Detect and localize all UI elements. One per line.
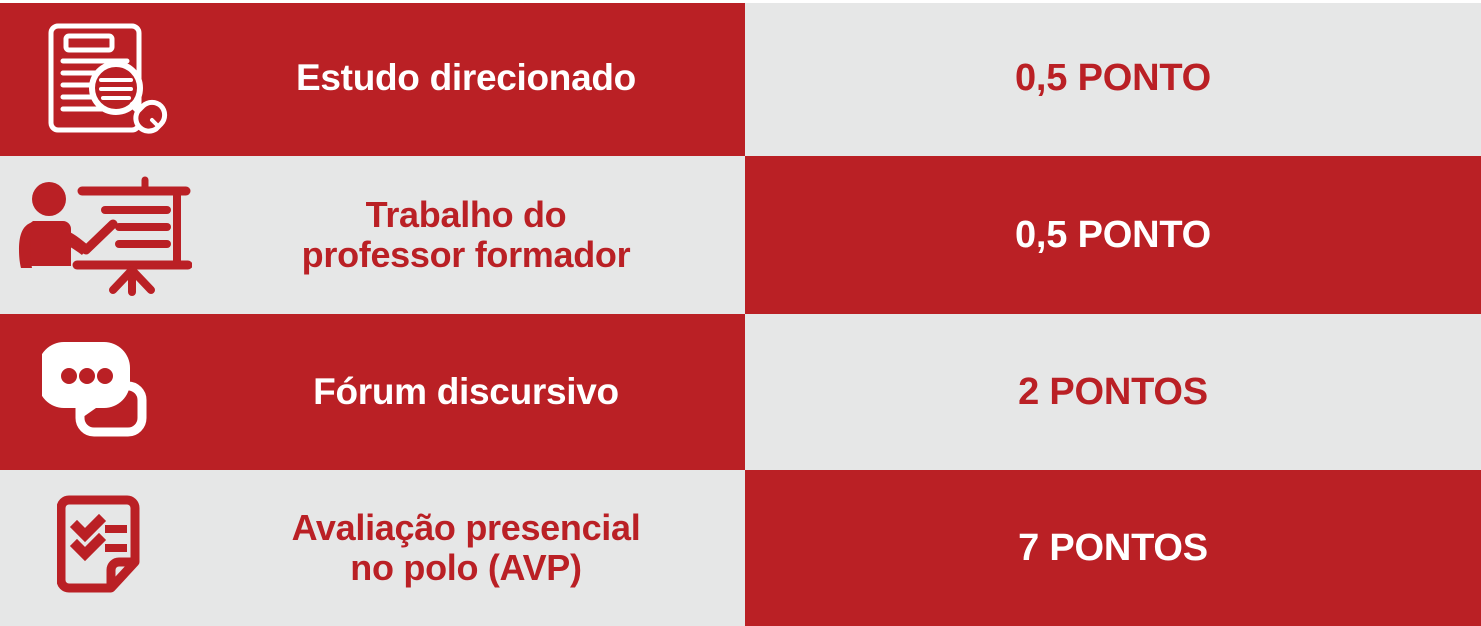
- points-value: 2 PONTOS: [1018, 371, 1208, 414]
- table-row: Fórum discursivo 2 PONTOS: [0, 314, 1481, 470]
- grading-table: Estudo direcionado 0,5 PONTO: [0, 0, 1481, 626]
- activity-cell: Fórum discursivo: [0, 314, 745, 470]
- points-cell: 0,5 PONTO: [745, 0, 1481, 156]
- teacher-flipchart-icon: [0, 156, 205, 314]
- table-row: Avaliação presencial no polo (AVP) 7 PON…: [0, 470, 1481, 626]
- activity-label: Avaliação presencial no polo (AVP): [205, 508, 745, 589]
- checklist-document-icon: [0, 470, 205, 626]
- activity-cell: Avaliação presencial no polo (AVP): [0, 470, 745, 626]
- activity-label: Fórum discursivo: [205, 371, 745, 412]
- table-row: Estudo direcionado 0,5 PONTO: [0, 0, 1481, 156]
- grading-criteria-graphic: Estudo direcionado 0,5 PONTO: [0, 0, 1481, 626]
- points-value: 0,5 PONTO: [1015, 214, 1211, 257]
- activity-cell: Estudo direcionado: [0, 0, 745, 156]
- activity-label: Estudo direcionado: [205, 57, 745, 98]
- document-magnifier-mouse-icon: [0, 0, 205, 156]
- points-value: 7 PONTOS: [1018, 527, 1208, 570]
- chat-bubbles-icon: [0, 314, 205, 470]
- points-value: 0,5 PONTO: [1015, 57, 1211, 100]
- activity-cell: Trabalho do professor formador: [0, 156, 745, 314]
- top-edge-strip: [0, 0, 1481, 3]
- table-row: Trabalho do professor formador 0,5 PONTO: [0, 156, 1481, 314]
- points-cell: 7 PONTOS: [745, 470, 1481, 626]
- activity-label: Trabalho do professor formador: [205, 195, 745, 276]
- points-cell: 0,5 PONTO: [745, 156, 1481, 314]
- points-cell: 2 PONTOS: [745, 314, 1481, 470]
